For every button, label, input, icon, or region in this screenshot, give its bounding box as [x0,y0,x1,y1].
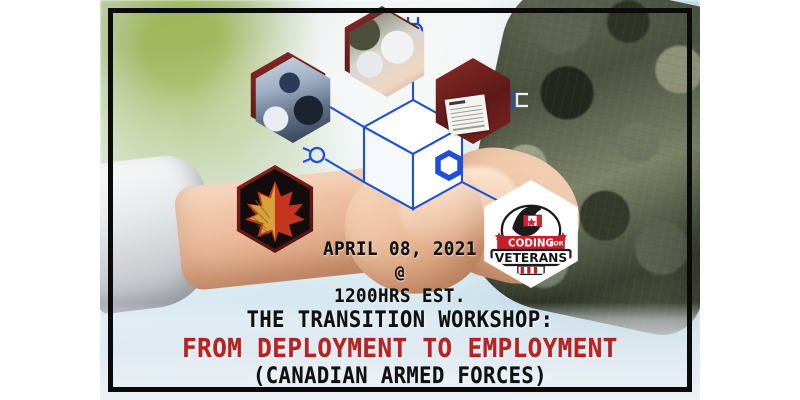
event-date: APRIL 08, 2021 [124,240,676,259]
event-at-symbol: @ [124,265,676,282]
event-poster: CODING FOR VETERANS APRIL 08, 2021 @ 120… [100,0,700,400]
poster-title-line-2: FROM DEPLOYMENT TO EMPLOYMENT [121,336,679,362]
poster-subtitle-text: (CANADIAN ARMED FORCES) [247,364,552,389]
poster-subtitle: (CANADIAN ARMED FORCES) [121,366,679,388]
event-time: 1200HRS EST. [124,287,676,306]
poster-text-block: APRIL 08, 2021 @ 1200HRS EST. THE TRANSI… [100,0,700,400]
poster-title-line-1: THE TRANSITION WORKSHOP: [121,310,679,332]
